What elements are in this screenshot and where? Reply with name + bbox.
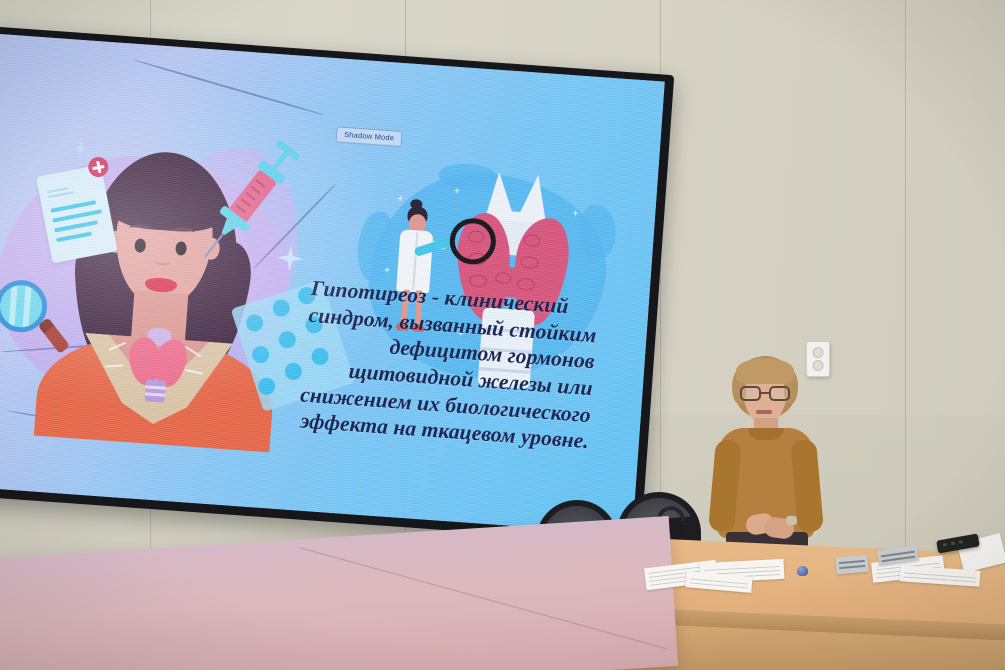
magnifier-handle: [38, 317, 70, 353]
trachea: [145, 379, 167, 402]
sparkle-icon: [572, 209, 579, 216]
thyroid-isthmus: [146, 353, 168, 378]
syringe-icon: [228, 169, 277, 223]
screen-bezel: Гипотиреоз - клинический синдром, вызван…: [0, 26, 674, 544]
small-desk-object[interactable]: [797, 566, 808, 576]
wristwatch: [786, 516, 797, 525]
syringe-barrel: [228, 169, 277, 223]
mouth: [756, 410, 772, 414]
table-seam: [300, 547, 667, 649]
lecture-room-scene: Гипотиреоз - клинический синдром, вызван…: [0, 0, 1005, 670]
printed-card[interactable]: [835, 555, 868, 575]
slide-body-text: Гипотиреоз - клинический синдром, вызван…: [271, 273, 600, 455]
sparkle-icon: [453, 187, 460, 194]
slide-surface: Гипотиреоз - клинический синдром, вызван…: [0, 33, 665, 534]
sparkle-icon: [396, 195, 403, 202]
lens-right: [769, 386, 790, 401]
eyeglasses-icon: [740, 386, 790, 401]
sparkle-icon: [383, 266, 390, 273]
medical-document-icon: [36, 165, 117, 264]
hair-front: [107, 150, 228, 234]
magnifier-icon: [0, 278, 49, 334]
presentation-screen[interactable]: Гипотиреоз - клинический синдром, вызван…: [0, 26, 674, 544]
glasses-bridge: [761, 392, 769, 394]
hair-front: [736, 358, 794, 384]
red-cross-icon: [87, 155, 110, 178]
lens-left: [740, 386, 761, 401]
